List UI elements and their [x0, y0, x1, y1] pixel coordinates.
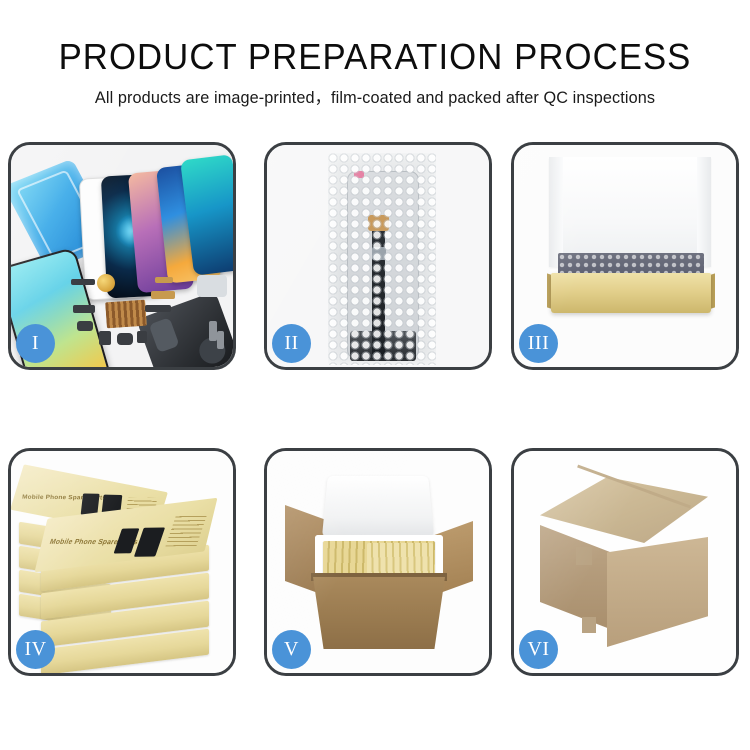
spare-part-bit	[73, 305, 95, 313]
step-badge: VI	[519, 630, 558, 669]
page-subtitle: All products are image-printed，film-coat…	[6, 84, 745, 108]
process-step-panel-2: II	[264, 142, 492, 370]
foam-lid	[322, 476, 434, 538]
spare-part-bit	[151, 291, 175, 299]
step-badge: IV	[16, 630, 55, 669]
process-step-panel-6: VI	[511, 448, 739, 676]
box-spec-lines	[165, 515, 207, 547]
spare-part-bit	[145, 305, 171, 312]
spare-part-bit	[197, 275, 227, 297]
process-step-grid: I II	[8, 142, 742, 676]
bubble-texture	[328, 153, 436, 365]
step-badge: V	[272, 630, 311, 669]
process-step-panel-1: I	[8, 142, 236, 370]
step-badge: II	[272, 324, 311, 363]
spare-part-bit	[117, 333, 133, 345]
carton-tape-lower	[582, 617, 596, 633]
spare-part-bit	[155, 277, 173, 283]
process-step-panel-4: Mobile Phone Spare Parts Mobile Phone Sp…	[8, 448, 236, 676]
page-header: PRODUCT PREPARATION PROCESS All products…	[0, 0, 750, 133]
carton-front-face	[313, 577, 445, 649]
spare-part-bit	[209, 321, 217, 341]
process-step-panel-5: V	[264, 448, 492, 676]
carton-tape-upper	[576, 547, 592, 565]
spare-part-bit	[217, 331, 224, 349]
gold-tray-box	[551, 273, 711, 313]
camera-ring-part	[97, 274, 115, 292]
process-step-panel-3: III	[511, 142, 739, 370]
step-badge: III	[519, 324, 558, 363]
spare-part-bit	[137, 331, 147, 343]
white-box-flap	[549, 157, 711, 267]
box-thumbnail	[134, 527, 165, 556]
spare-part-bit	[99, 331, 111, 345]
bubble-wrap-bag	[328, 153, 436, 365]
spare-part-bit	[71, 279, 95, 285]
white-box-flap-left	[549, 157, 563, 267]
logic-board-part	[105, 300, 147, 329]
spare-part-bit	[77, 321, 93, 331]
page-title: PRODUCT PREPARATION PROCESS	[13, 36, 737, 78]
white-box-flap-right	[697, 157, 711, 267]
step-badge: I	[16, 324, 55, 363]
